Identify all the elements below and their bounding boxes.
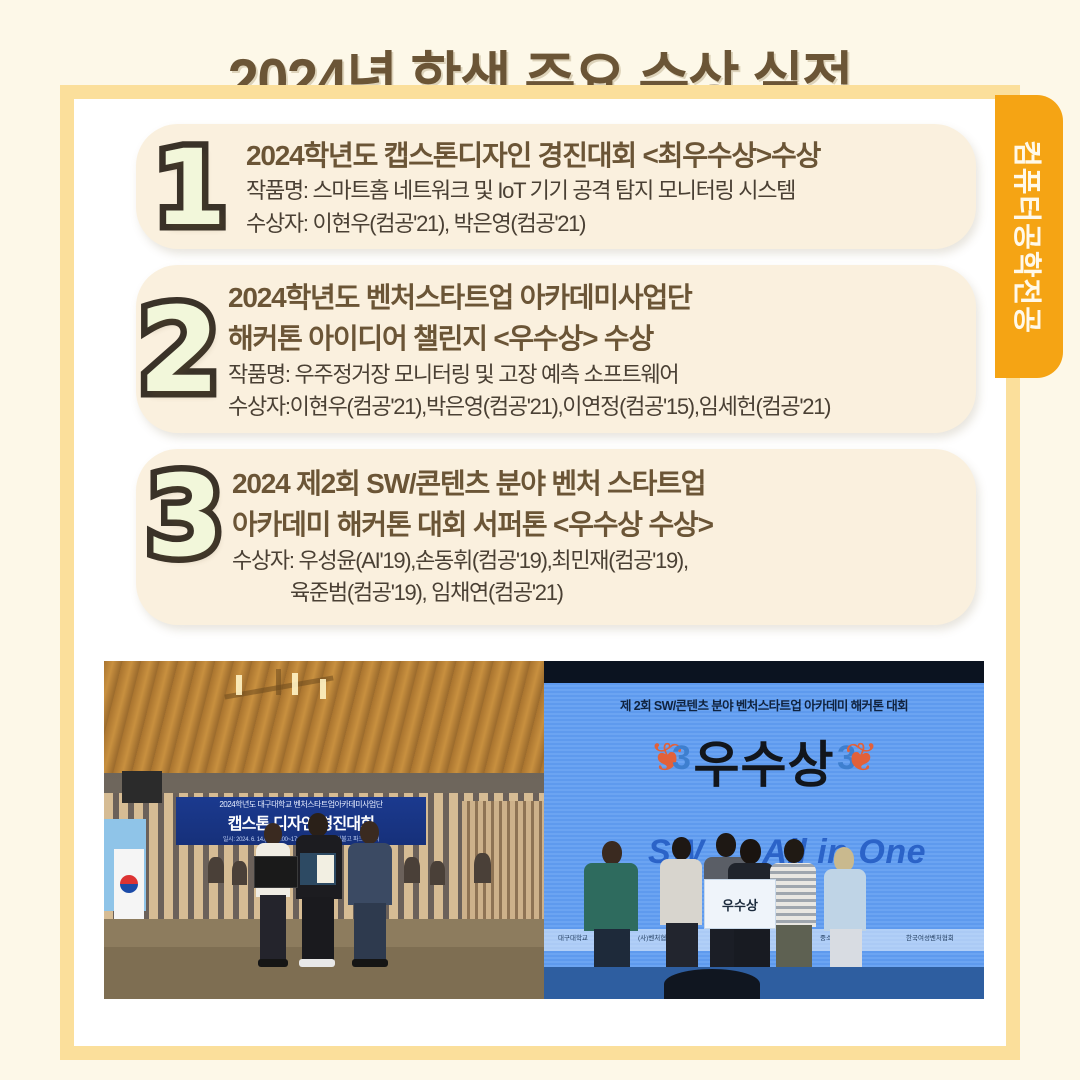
audience-figure: [474, 853, 491, 883]
speaker-box: [122, 771, 162, 803]
award-project-line: 작품명: 우주정거장 모니터링 및 고장 예측 소프트웨어: [228, 359, 976, 391]
head: [360, 821, 379, 844]
ceiling-dark: [544, 661, 984, 685]
award-recipients-line: 수상자: 이현우(컴공'21), 박은영(컴공'21): [246, 207, 976, 240]
screen-prize-text: 우수상: [544, 725, 984, 797]
department-side-tab: 컴퓨터공학전공: [995, 95, 1063, 378]
torso: [824, 869, 866, 931]
department-label: 컴퓨터공학전공: [1008, 140, 1050, 334]
award-title-line: 아카데미 해커톤 대회 서퍼톤 <우수상 수상>: [232, 504, 976, 545]
award-card-2: 2 2024학년도 벤처스타트업 아카데미사업단 해커톤 아이디어 챌린지 <우…: [136, 265, 976, 433]
award-recipients-line: 수상자:이현우(컴공'21),박은영(컴공'21),이연정(컴공'15),임세헌…: [228, 391, 976, 423]
laurel-icon: ❦: [844, 735, 878, 781]
striped-shirt: [770, 863, 816, 927]
chandelier-candle: [236, 675, 242, 695]
award-recipients-line-2: 육준범(컴공'19), 임채연(컴공'21): [232, 577, 976, 609]
poster-panel: 1 2024학년도 캡스톤디자인 경진대회 <최우수상>수상 작품명: 스마트홈…: [74, 99, 1006, 1046]
head: [784, 839, 804, 863]
award-project-line: 작품명: 스마트홈 네트워크 및 IoT 기기 공격 탐지 모니터링 시스템: [246, 174, 976, 207]
head: [740, 839, 761, 864]
sponsor-logo: 대구대학교: [558, 932, 588, 942]
head: [308, 813, 328, 837]
audience-figure: [208, 857, 224, 883]
award-body-3: 2024 제2회 SW/콘텐츠 분야 벤처 스타트업 아카데미 해커톤 대회 서…: [232, 463, 976, 609]
screen-heading: 제 2회 SW/콘텐츠 분야 벤처스타트업 아카데미 해커톤 대회: [544, 695, 984, 714]
legs: [302, 897, 334, 963]
poster-frame: 1 2024학년도 캡스톤디자인 경진대회 <최우수상>수상 작품명: 스마트홈…: [60, 85, 1020, 1060]
audience-figure: [430, 861, 445, 885]
award-title-line: 2024학년도 캡스톤디자인 경진대회 <최우수상>수상: [246, 138, 976, 174]
banner-subtitle: 2024학년도 대구대학교 벤처스타트업아카데미사업단: [219, 799, 382, 810]
award-title-line: 2024 제2회 SW/콘텐츠 분야 벤처 스타트업: [232, 463, 976, 504]
taegeuk-symbol: [120, 875, 138, 893]
placard-text: 우수상: [722, 895, 758, 914]
stage-front-edge: [544, 967, 984, 999]
head: [602, 841, 622, 865]
sponsor-logo: 한국여성벤처협회: [906, 932, 954, 942]
head: [264, 823, 282, 845]
audience-figure: [232, 861, 247, 885]
shoes: [299, 959, 335, 967]
award-plaque: [254, 856, 298, 888]
audience-silhouette: [664, 969, 760, 999]
award-list: 1 2024학년도 캡스톤디자인 경진대회 <최우수상>수상 작품명: 스마트홈…: [136, 124, 976, 641]
audience-figure: [404, 857, 420, 883]
head-with-cap: [716, 833, 736, 857]
award-title-line: 해커톤 아이디어 챌린지 <우수상> 수상: [228, 318, 976, 359]
legs: [260, 895, 286, 963]
photo-strip: 2024학년도 대구대학교 벤처스타트업아카데미사업단 캡스톤 디자인 경진대회…: [104, 661, 984, 999]
legs: [354, 903, 386, 963]
head: [672, 837, 691, 860]
chandelier-stem: [276, 669, 281, 695]
award-body-1: 2024학년도 캡스톤디자인 경진대회 <최우수상>수상 작품명: 스마트홈 네…: [246, 138, 976, 240]
green-jacket: [584, 863, 638, 931]
hackathon-award-ceremony-photo: 제 2회 SW/콘텐츠 분야 벤처스타트업 아카데미 해커톤 대회 ❦ 3 우수…: [544, 661, 984, 999]
award-placard: 우수상: [704, 879, 776, 929]
certificate-folder: [300, 853, 336, 885]
certificate-page: [317, 855, 334, 883]
chandelier-candle: [292, 673, 298, 695]
shoes: [352, 959, 388, 967]
chandelier-candle: [320, 679, 326, 699]
award-rank-number-1: 1: [154, 136, 226, 240]
award-title-line: 2024학년도 벤처스타트업 아카데미사업단: [228, 277, 976, 318]
award-rank-number-2: 2: [138, 291, 220, 409]
shoes: [258, 959, 288, 967]
award-card-3: 3 2024 제2회 SW/콘텐츠 분야 벤처 스타트업 아카데미 해커톤 대회…: [136, 449, 976, 625]
award-body-2: 2024학년도 벤처스타트업 아카데미사업단 해커톤 아이디어 챌린지 <우수상…: [228, 277, 976, 423]
award-card-1: 1 2024학년도 캡스톤디자인 경진대회 <최우수상>수상 작품명: 스마트홈…: [136, 124, 976, 249]
torso: [660, 859, 702, 925]
head-with-cap: [834, 847, 854, 871]
capstone-award-ceremony-photo: 2024학년도 대구대학교 벤처스타트업아카데미사업단 캡스톤 디자인 경진대회…: [104, 661, 544, 999]
award-rank-number-3: 3: [146, 461, 224, 573]
banner-title: 캡스톤 디자인 경진대회: [228, 810, 375, 834]
suit-jacket: [348, 843, 392, 905]
award-recipients-line: 수상자: 우성윤(AI'19),손동휘(컴공'19),최민재(컴공'19),: [232, 545, 976, 577]
